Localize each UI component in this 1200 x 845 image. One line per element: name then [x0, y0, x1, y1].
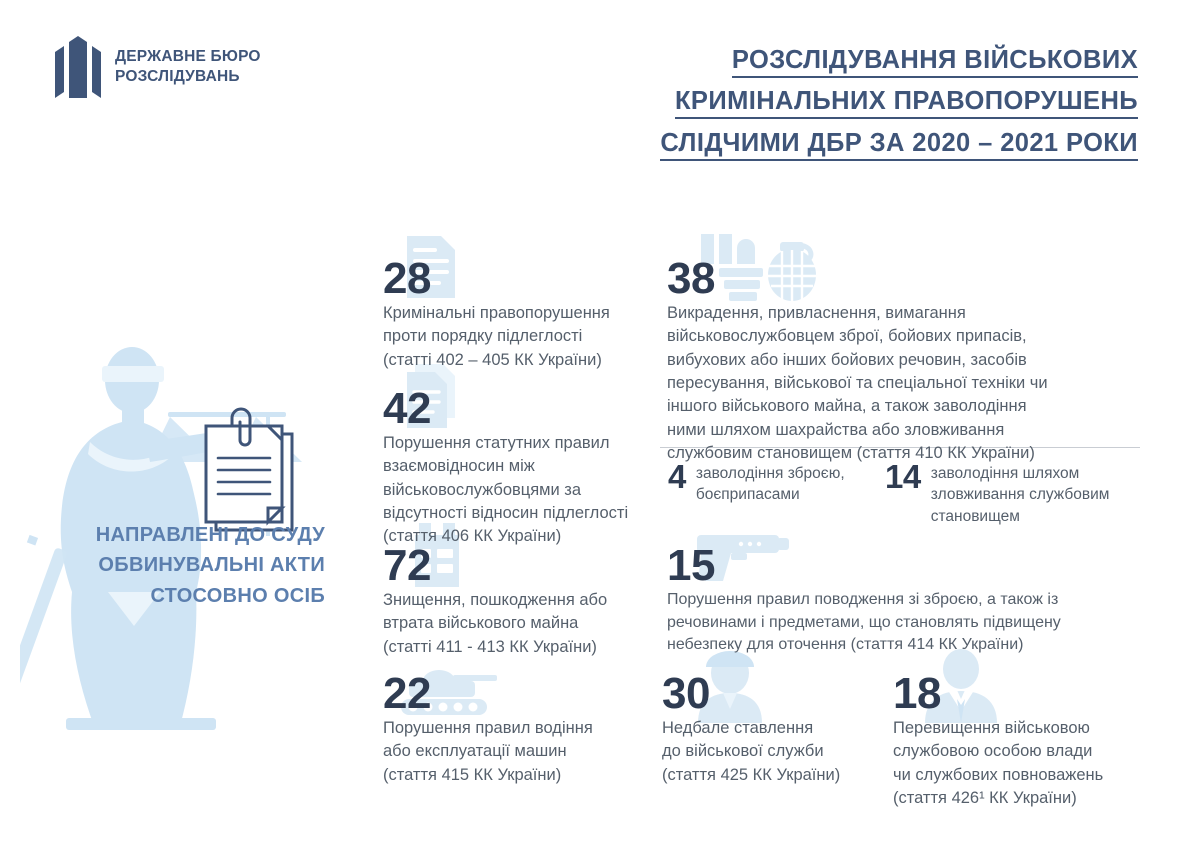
stat-number: 28	[383, 258, 645, 300]
stat-description: Перевищення військовою службовою особою …	[893, 717, 1133, 811]
title-line-1: РОЗСЛІДУВАННЯ ВІЙСЬКОВИХ	[732, 46, 1138, 78]
stat-block-38: 38 Викрадення, привласнення, вимагання в…	[667, 258, 1087, 466]
stat-number: 30	[662, 673, 877, 715]
stat-description: Викрадення, привласнення, вимагання війс…	[667, 302, 1087, 466]
substat-block-4: 4 заволодіння зброєю, боєприпасами	[668, 460, 845, 506]
pillars-icon	[55, 36, 101, 98]
stat-block-28: 28 Кримінальні правопорушення проти поря…	[383, 258, 645, 372]
title-line-3: СЛІДЧИМИ ДБР ЗА 2020 – 2021 РОКИ	[660, 129, 1138, 161]
stat-description: Знищення, пошкодження або втрата військо…	[383, 589, 645, 659]
logo: ДЕРЖАВНЕ БЮРО РОЗСЛІДУВАНЬ	[55, 36, 261, 98]
stat-block-72: 72 Знищення, пошкодження або втрата війс…	[383, 545, 645, 659]
left-panel-caption: НАПРАВЛЕНІ ДО СУДУ ОБВИНУВАЛЬНІ АКТИ СТО…	[20, 520, 325, 611]
stat-block-15: 15 Порушення правил поводження зі зброєю…	[667, 545, 1097, 657]
stat-description: Порушення правил поводження зі зброєю, а…	[667, 589, 1097, 657]
stat-block-18: 18 Перевищення військовою службовою особ…	[893, 673, 1133, 810]
page-title: РОЗСЛІДУВАННЯ ВІЙСЬКОВИХ КРИМІНАЛЬНИХ ПР…	[438, 40, 1138, 164]
stat-number: 38	[667, 258, 1087, 300]
logo-text: ДЕРЖАВНЕ БЮРО РОЗСЛІДУВАНЬ	[115, 47, 261, 88]
stat-number: 42	[383, 388, 645, 430]
title-line-2: КРИМІНАЛЬНИХ ПРАВОПОРУШЕНЬ	[675, 87, 1138, 119]
left-panel: НАПРАВЛЕНІ ДО СУДУ ОБВИНУВАЛЬНІ АКТИ СТО…	[20, 330, 350, 730]
stat-block-22: 22 Порушення правил водіння або експлуат…	[383, 673, 645, 787]
document-with-paperclip-icon	[206, 409, 292, 530]
stat-number: 15	[667, 545, 1097, 587]
substat-description: заволодіння зброєю, боєприпасами	[696, 460, 845, 506]
stat-block-30: 30 Недбале ставлення до військової служб…	[662, 673, 877, 787]
substat-description: заволодіння шляхом зловживання службовим…	[931, 460, 1110, 527]
stat-number: 22	[383, 673, 645, 715]
stat-description: Недбале ставлення до військової служби (…	[662, 717, 877, 787]
stat-number: 18	[893, 673, 1133, 715]
stat-description: Порушення правил водіння або експлуатаці…	[383, 717, 645, 787]
substat-block-14: 14 заволодіння шляхом зловживання службо…	[885, 460, 1109, 527]
stat-number: 72	[383, 545, 645, 587]
stat-description: Кримінальні правопорушення проти порядку…	[383, 302, 645, 372]
stat-block-42: 42 Порушення статутних правил взаємовідн…	[383, 388, 645, 549]
stat-description: Порушення статутних правил взаємовідноси…	[383, 432, 645, 549]
